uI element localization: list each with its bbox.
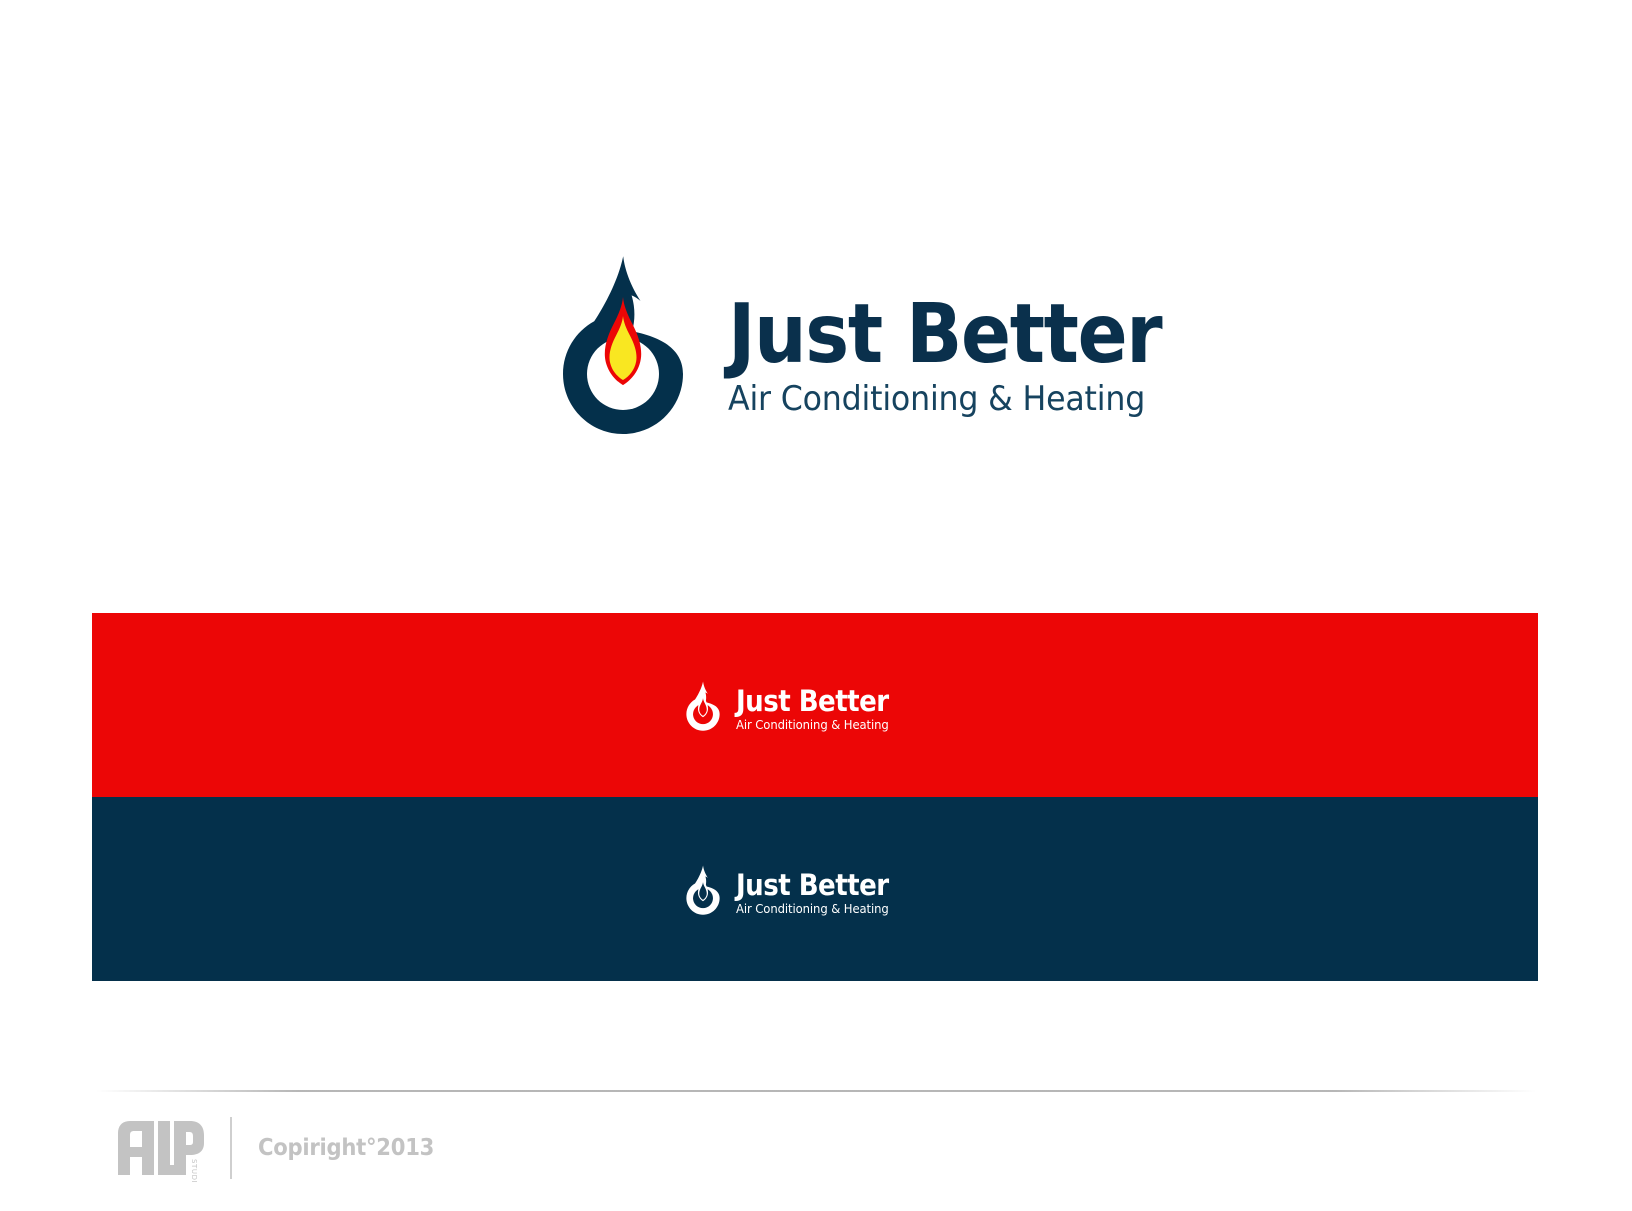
red-band-logo-lockup: Just Better Air Conditioning & Heating xyxy=(680,674,906,736)
navy-band-tagline: Air Conditioning & Heating xyxy=(736,902,894,916)
primary-logotype: Just Better Air Conditioning & Heating xyxy=(728,263,1210,419)
copyright-text: Copiright°2013 xyxy=(258,1135,434,1161)
footer-separator xyxy=(230,1117,232,1179)
footer-divider xyxy=(96,1090,1536,1092)
primary-tagline: Air Conditioning & Heating xyxy=(728,380,1176,419)
footer: STUDIO Copiright°2013 xyxy=(112,1098,449,1198)
flame-droplet-icon xyxy=(540,248,706,434)
alp-studio-sublabel: STUDIO xyxy=(190,1159,198,1183)
navy-band-logo-lockup: Just Better Air Conditioning & Heating xyxy=(680,858,906,920)
alp-studio-logo-icon: STUDIO xyxy=(112,1113,208,1183)
logo-presentation-board: Just Better Air Conditioning & Heating J… xyxy=(0,0,1632,1211)
navy-band-logotype: Just Better Air Conditioning & Heating xyxy=(736,862,906,917)
flame-droplet-icon xyxy=(680,858,726,920)
primary-logo-lockup: Just Better Air Conditioning & Heating xyxy=(540,248,1210,434)
navy-band: Just Better Air Conditioning & Heating xyxy=(92,797,1538,981)
flame-droplet-icon xyxy=(680,674,726,736)
red-band-wordmark: Just Better xyxy=(736,688,889,716)
color-application-bands: Just Better Air Conditioning & Heating J xyxy=(92,613,1538,981)
red-band-tagline: Air Conditioning & Heating xyxy=(736,718,894,732)
red-band: Just Better Air Conditioning & Heating xyxy=(92,613,1538,797)
red-band-logotype: Just Better Air Conditioning & Heating xyxy=(736,678,906,733)
navy-band-wordmark: Just Better xyxy=(736,872,889,900)
primary-wordmark: Just Better xyxy=(728,297,1161,372)
